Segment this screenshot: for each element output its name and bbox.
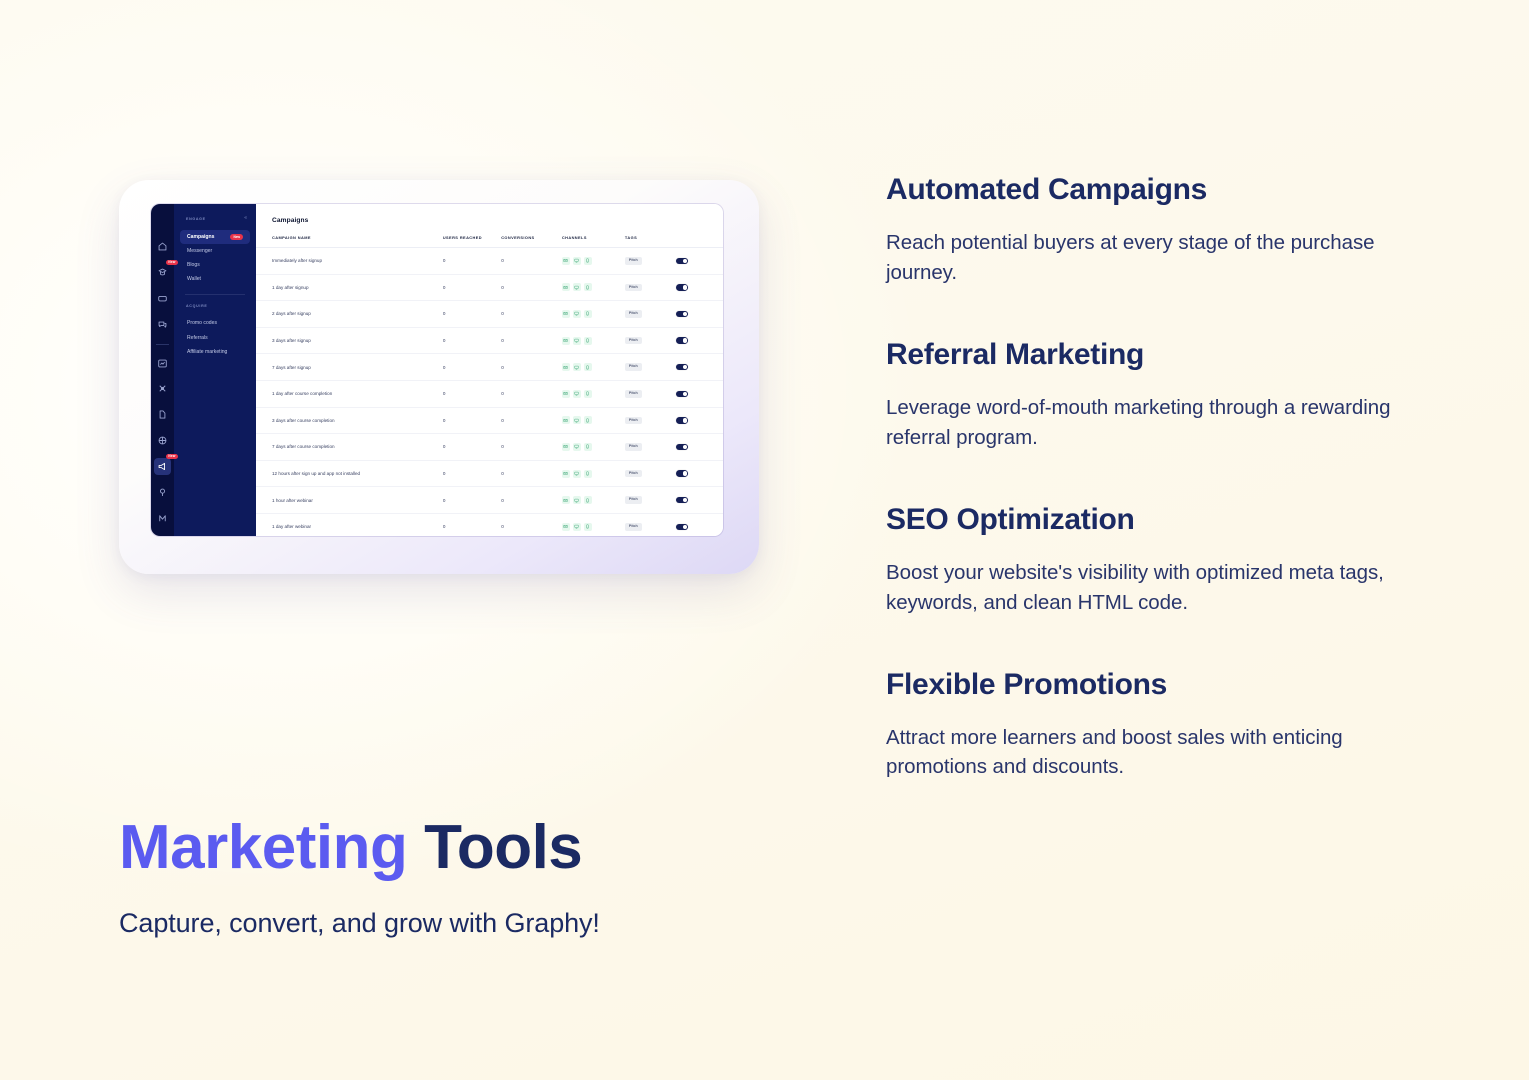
cell-status-toggle	[676, 380, 723, 407]
cell-campaign-name: 7 days after course completion	[256, 434, 443, 461]
mobile-icon	[584, 363, 592, 371]
col-header-conversions: CONVERSIONS	[501, 235, 562, 248]
cell-campaign-name: 3 days after course completion	[256, 407, 443, 434]
table-row[interactable]: 1 day after signup00Pitch	[256, 274, 723, 301]
nav-section-engage-header: ENGAGE «	[174, 216, 256, 221]
analytics-icon[interactable]	[154, 355, 171, 372]
email-icon	[562, 496, 570, 504]
mobile-icon	[584, 390, 592, 398]
channel-chip-group	[562, 443, 625, 451]
channel-chip-group	[562, 283, 625, 291]
cell-status-toggle	[676, 487, 723, 514]
email-icon	[562, 337, 570, 345]
cell-channels	[562, 460, 625, 487]
subtitle: Capture, convert, and grow with Graphy!	[119, 908, 879, 939]
sidebar-item-wallet[interactable]: Wallet	[180, 273, 250, 286]
campaign-enabled-toggle[interactable]	[676, 391, 688, 397]
desktop-icon	[573, 416, 581, 424]
feature-title: Automated Campaigns	[886, 172, 1431, 208]
cell-campaign-name: 7 days after signup	[256, 354, 443, 381]
cell-channels	[562, 274, 625, 301]
feature-seo-optimization: SEO Optimization Boost your website's vi…	[886, 502, 1431, 618]
sidebar-item-label: Campaigns	[187, 235, 214, 240]
campaign-enabled-toggle[interactable]	[676, 470, 688, 476]
feature-automated-campaigns: Automated Campaigns Reach potential buye…	[886, 172, 1431, 288]
status-badge: Pitch	[625, 523, 642, 531]
cell-conversions: 0	[501, 513, 562, 536]
campaigns-table-body: Immediately after signup00Pitch1 day aft…	[256, 248, 723, 537]
cell-campaign-name: 2 days after signup	[256, 301, 443, 328]
main-heading: Marketing Tools	[119, 815, 879, 882]
tablet-mockup: New	[119, 180, 759, 574]
heading-accent-word: Marketing	[119, 813, 407, 882]
col-header-channels: CHANNELS	[562, 235, 625, 248]
desktop-icon	[573, 283, 581, 291]
col-header-status	[676, 235, 723, 248]
cell-campaign-name: 1 day after signup	[256, 274, 443, 301]
cell-status-toggle	[676, 354, 723, 381]
heading-rest-word: Tools	[407, 813, 582, 882]
sidebar-item-promo-codes[interactable]: Promo codes	[180, 317, 250, 330]
cell-users-reached: 0	[443, 487, 501, 514]
cell-tags: Pitch	[625, 327, 676, 354]
channel-chip-group	[562, 470, 625, 478]
table-row[interactable]: 1 day after webinar00Pitch	[256, 513, 723, 536]
cell-conversions: 0	[501, 354, 562, 381]
feature-body: Leverage word-of-mouth marketing through…	[886, 393, 1431, 453]
table-row[interactable]: 7 days after course completion00Pitch	[256, 434, 723, 461]
sidebar-item-label: Messenger	[187, 249, 212, 254]
rail-divider	[156, 344, 169, 345]
col-header-campaign-name: CAMPAIGN NAME	[256, 235, 443, 248]
feature-list: Automated Campaigns Reach potential buye…	[886, 172, 1431, 782]
mobile-icon	[584, 257, 592, 265]
col-header-tags: TAGS	[625, 235, 676, 248]
status-badge: Pitch	[625, 337, 642, 345]
nav-section-label-acquire: ACQUIRE	[186, 304, 207, 308]
support-icon[interactable]	[154, 484, 171, 501]
cell-channels	[562, 354, 625, 381]
sidebar-item-label: Wallet	[187, 277, 201, 282]
sidebar-item-label: Blogs	[187, 263, 200, 268]
cell-status-toggle	[676, 513, 723, 536]
cell-channels	[562, 248, 625, 275]
table-row[interactable]: 7 days after signup00Pitch	[256, 354, 723, 381]
cell-campaign-name: 12 hours after sign up and app not insta…	[256, 460, 443, 487]
cell-status-toggle	[676, 327, 723, 354]
cell-status-toggle	[676, 434, 723, 461]
mobile-icon	[584, 310, 592, 318]
channel-chip-group	[562, 416, 625, 424]
cell-tags: Pitch	[625, 434, 676, 461]
cell-users-reached: 0	[443, 327, 501, 354]
table-row[interactable]: 2 days after signup00Pitch	[256, 301, 723, 328]
cell-users-reached: 0	[443, 248, 501, 275]
marketing-icon[interactable]: New	[154, 458, 171, 475]
email-icon	[562, 470, 570, 478]
table-row[interactable]: 3 days after course completion00Pitch	[256, 407, 723, 434]
chat-icon[interactable]	[154, 316, 171, 333]
status-badge: Pitch	[625, 470, 642, 478]
campaign-enabled-toggle[interactable]	[676, 524, 688, 530]
cell-conversions: 0	[501, 301, 562, 328]
cell-conversions: 0	[501, 380, 562, 407]
cell-channels	[562, 487, 625, 514]
integrations-icon[interactable]	[154, 432, 171, 449]
sidebar-nav-panel: ENGAGE « Campaigns New Messenger Blogs W…	[174, 204, 256, 536]
cell-campaign-name: 3 days after signup	[256, 327, 443, 354]
desktop-icon	[573, 363, 581, 371]
cell-conversions: 0	[501, 487, 562, 514]
feature-flexible-promotions: Flexible Promotions Attract more learner…	[886, 667, 1431, 783]
sidebar-item-referrals[interactable]: Referrals	[180, 332, 250, 345]
sidebar-item-label: Affiliate marketing	[187, 350, 227, 355]
cell-channels	[562, 434, 625, 461]
email-icon	[562, 390, 570, 398]
desktop-icon	[573, 390, 581, 398]
cell-conversions: 0	[501, 248, 562, 275]
cell-users-reached: 0	[443, 301, 501, 328]
mobile-icon	[584, 496, 592, 504]
collapse-sidebar-icon[interactable]: «	[244, 216, 247, 221]
cell-users-reached: 0	[443, 460, 501, 487]
feature-body: Attract more learners and boost sales wi…	[886, 723, 1431, 783]
cell-conversions: 0	[501, 434, 562, 461]
status-badge: Pitch	[625, 284, 642, 292]
desktop-icon	[573, 310, 581, 318]
desktop-icon	[573, 470, 581, 478]
feature-title: SEO Optimization	[886, 502, 1431, 538]
headline-block: Marketing Tools Capture, convert, and gr…	[119, 815, 879, 939]
cell-channels	[562, 327, 625, 354]
table-header-row: CAMPAIGN NAME USERS REACHED CONVERSIONS …	[256, 235, 723, 248]
mobile-icon	[584, 283, 592, 291]
channel-chip-group	[562, 496, 625, 504]
cell-channels	[562, 407, 625, 434]
desktop-icon	[573, 257, 581, 265]
mobile-icon	[584, 443, 592, 451]
cell-status-toggle	[676, 248, 723, 275]
sidebar-item-campaigns[interactable]: Campaigns New	[180, 230, 250, 244]
table-row[interactable]: 1 day after course completion00Pitch	[256, 380, 723, 407]
cell-conversions: 0	[501, 460, 562, 487]
status-badge: Pitch	[625, 310, 642, 318]
campaign-enabled-toggle[interactable]	[676, 444, 688, 450]
cell-conversions: 0	[501, 327, 562, 354]
cell-tags: Pitch	[625, 274, 676, 301]
status-badge: Pitch	[625, 443, 642, 451]
feature-body: Boost your website's visibility with opt…	[886, 558, 1431, 618]
marketing-tools-page: New	[0, 0, 1529, 1080]
cell-conversions: 0	[501, 274, 562, 301]
sidebar-divider	[185, 294, 245, 295]
cell-tags: Pitch	[625, 460, 676, 487]
email-icon	[562, 310, 570, 318]
sidebar-item-label: Promo codes	[187, 321, 217, 326]
home-icon[interactable]	[154, 238, 171, 255]
feature-title: Referral Marketing	[886, 337, 1431, 373]
cell-status-toggle	[676, 460, 723, 487]
cell-users-reached: 0	[443, 407, 501, 434]
cell-tags: Pitch	[625, 380, 676, 407]
card-icon[interactable]	[154, 290, 171, 307]
mobile-icon	[584, 523, 592, 531]
email-icon	[562, 443, 570, 451]
channel-chip-group	[562, 363, 625, 371]
sidebar-item-label: Referrals	[187, 336, 208, 341]
cell-status-toggle	[676, 301, 723, 328]
document-icon[interactable]	[154, 406, 171, 423]
rail-badge-new: New	[166, 260, 178, 265]
channel-chip-group	[562, 390, 625, 398]
campaign-enabled-toggle[interactable]	[676, 337, 688, 343]
cell-tags: Pitch	[625, 407, 676, 434]
channel-chip-group	[562, 257, 625, 265]
status-badge: Pitch	[625, 496, 642, 504]
channel-chip-group	[562, 337, 625, 345]
cell-channels	[562, 513, 625, 536]
feature-body: Reach potential buyers at every stage of…	[886, 228, 1431, 288]
cell-tags: Pitch	[625, 487, 676, 514]
channel-chip-group	[562, 523, 625, 531]
nav-section-acquire-header: ACQUIRE	[174, 304, 256, 308]
email-icon	[562, 363, 570, 371]
desktop-icon	[573, 496, 581, 504]
mobile-icon	[584, 470, 592, 478]
table-row[interactable]: 12 hours after sign up and app not insta…	[256, 460, 723, 487]
feature-referral-marketing: Referral Marketing Leverage word-of-mout…	[886, 337, 1431, 453]
campaigns-table: CAMPAIGN NAME USERS REACHED CONVERSIONS …	[256, 235, 723, 536]
campaign-enabled-toggle[interactable]	[676, 417, 688, 423]
sidebar-item-messenger[interactable]: Messenger	[180, 245, 250, 258]
campaign-enabled-toggle[interactable]	[676, 364, 688, 370]
sidebar-item-affiliate-marketing[interactable]: Affiliate marketing	[180, 346, 250, 359]
cell-tags: Pitch	[625, 513, 676, 536]
cell-status-toggle	[676, 407, 723, 434]
feature-title: Flexible Promotions	[886, 667, 1431, 703]
cell-users-reached: 0	[443, 380, 501, 407]
campaigns-content-area: Campaigns CAMPAIGN NAME USERS REACHED CO…	[256, 204, 723, 536]
cell-tags: Pitch	[625, 354, 676, 381]
table-row[interactable]: 1 hour after webinar00Pitch	[256, 487, 723, 514]
cell-users-reached: 0	[443, 513, 501, 536]
page-title: Campaigns	[256, 204, 723, 224]
col-header-users-reached: USERS REACHED	[443, 235, 501, 248]
tablet-screen: New	[151, 204, 723, 536]
rail-badge-new-2: New	[166, 454, 178, 459]
mobile-icon	[584, 337, 592, 345]
settings-icon[interactable]	[154, 381, 171, 398]
table-row[interactable]: Immediately after signup00Pitch	[256, 248, 723, 275]
campaign-enabled-toggle[interactable]	[676, 258, 688, 264]
table-row[interactable]: 3 days after signup00Pitch	[256, 327, 723, 354]
status-badge: Pitch	[625, 390, 642, 398]
cell-channels	[562, 301, 625, 328]
cell-users-reached: 0	[443, 434, 501, 461]
email-icon	[562, 283, 570, 291]
cell-users-reached: 0	[443, 274, 501, 301]
cell-campaign-name: 1 day after course completion	[256, 380, 443, 407]
cell-campaign-name: 1 day after webinar	[256, 513, 443, 536]
desktop-icon	[573, 443, 581, 451]
campaign-enabled-toggle[interactable]	[676, 311, 688, 317]
status-badge: Pitch	[625, 257, 642, 265]
mobile-icon	[584, 416, 592, 424]
campaign-enabled-toggle[interactable]	[676, 497, 688, 503]
status-badge: Pitch	[625, 417, 642, 425]
cell-conversions: 0	[501, 407, 562, 434]
email-icon	[562, 257, 570, 265]
status-badge: Pitch	[625, 363, 642, 371]
app-icon-rail: New	[151, 204, 174, 536]
cell-campaign-name: Immediately after signup	[256, 248, 443, 275]
channel-chip-group	[562, 310, 625, 318]
desktop-icon	[573, 337, 581, 345]
cell-campaign-name: 1 hour after webinar	[256, 487, 443, 514]
sidebar-badge-new: New	[230, 234, 243, 240]
cell-tags: Pitch	[625, 301, 676, 328]
desktop-icon	[573, 523, 581, 531]
cell-status-toggle	[676, 274, 723, 301]
email-icon	[562, 523, 570, 531]
sidebar-item-blogs[interactable]: Blogs	[180, 259, 250, 272]
courses-icon[interactable]: New	[154, 264, 171, 281]
apps-icon[interactable]	[154, 510, 171, 527]
cell-tags: Pitch	[625, 248, 676, 275]
nav-section-label-engage: ENGAGE	[186, 217, 206, 221]
cell-users-reached: 0	[443, 354, 501, 381]
campaign-enabled-toggle[interactable]	[676, 284, 688, 290]
email-icon	[562, 416, 570, 424]
cell-channels	[562, 380, 625, 407]
